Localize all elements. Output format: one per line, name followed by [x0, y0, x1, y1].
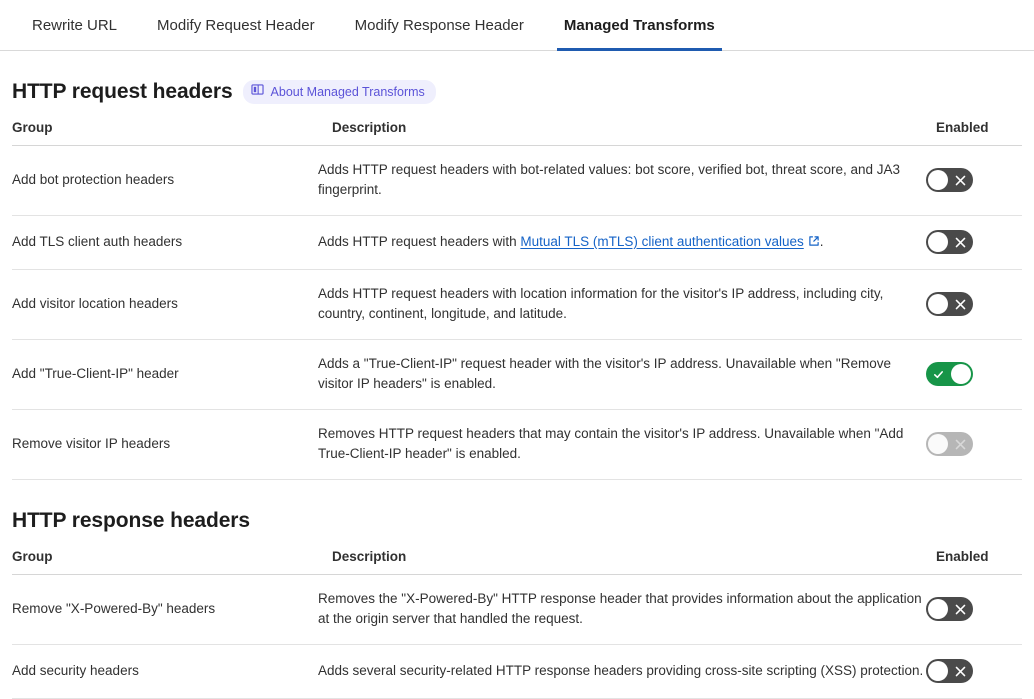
tab-modify-response-header[interactable]: Modify Response Header	[335, 0, 544, 50]
table-row: Add TLS client auth headers Adds HTTP re…	[12, 216, 1022, 270]
close-icon	[948, 230, 973, 254]
toggle-knob	[928, 661, 948, 681]
toggle-knob	[928, 434, 948, 454]
table-row: Add bot protection headers Adds HTTP req…	[12, 146, 1022, 216]
http-request-headers-section: HTTP request headers About Managed Trans…	[0, 51, 1034, 480]
tab-managed-transforms[interactable]: Managed Transforms	[544, 0, 735, 50]
row-group-name: Remove "X-Powered-By" headers	[12, 575, 318, 645]
row-enabled-cell	[926, 410, 1022, 480]
toggle-remove-x-powered-by-headers[interactable]	[926, 597, 973, 621]
toggle-add-tls-client-auth-headers[interactable]	[926, 230, 973, 254]
column-header-enabled: Enabled	[926, 119, 1022, 146]
toggle-add-security-headers[interactable]	[926, 659, 973, 683]
close-icon	[948, 597, 973, 621]
row-description: Removes the "X-Powered-By" HTTP response…	[318, 575, 926, 645]
about-managed-transforms-label: About Managed Transforms	[271, 85, 425, 100]
table-row: Remove "X-Powered-By" headers Removes th…	[12, 575, 1022, 645]
tab-rewrite-url[interactable]: Rewrite URL	[12, 0, 137, 50]
close-icon	[948, 168, 973, 192]
row-group-name: Add "True-Client-IP" header	[12, 340, 318, 410]
toggle-remove-visitor-ip-headers	[926, 432, 973, 456]
row-group-name: Add bot protection headers	[12, 146, 318, 216]
toggle-knob	[928, 170, 948, 190]
tab-bar: Rewrite URL Modify Request Header Modify…	[0, 0, 1034, 51]
table-header-row: Group Description Enabled	[12, 119, 1022, 146]
page-title-response: HTTP response headers	[12, 508, 250, 534]
row-group-name: Remove visitor IP headers	[12, 410, 318, 480]
table-header-row: Group Description Enabled	[12, 548, 1022, 575]
row-description: Adds a "True-Client-IP" request header w…	[318, 340, 926, 410]
row-group-name: Add TLS client auth headers	[12, 216, 318, 270]
column-header-enabled: Enabled	[926, 548, 1022, 575]
response-section-header: HTTP response headers	[12, 480, 1022, 548]
request-headers-table: Group Description Enabled Add bot protec…	[12, 119, 1022, 480]
request-section-header: HTTP request headers About Managed Trans…	[12, 51, 1022, 119]
close-icon	[948, 659, 973, 683]
about-managed-transforms-badge[interactable]: About Managed Transforms	[243, 80, 436, 104]
column-header-description: Description	[318, 548, 926, 575]
tab-modify-request-header[interactable]: Modify Request Header	[137, 0, 335, 50]
close-icon	[948, 432, 973, 456]
row-description: Adds HTTP request headers with location …	[318, 270, 926, 340]
http-response-headers-section: HTTP response headers Group Description …	[0, 480, 1034, 699]
response-headers-table: Group Description Enabled Remove "X-Powe…	[12, 548, 1022, 699]
row-description-prefix: Adds HTTP request headers with	[318, 234, 520, 249]
row-description-suffix: .	[820, 234, 824, 249]
check-icon	[926, 362, 951, 386]
column-header-group: Group	[12, 119, 318, 146]
row-group-name: Add visitor location headers	[12, 270, 318, 340]
toggle-knob	[928, 232, 948, 252]
row-description: Adds HTTP request headers with Mutual TL…	[318, 216, 926, 270]
toggle-add-visitor-location-headers[interactable]	[926, 292, 973, 316]
column-header-group: Group	[12, 548, 318, 575]
row-enabled-cell	[926, 575, 1022, 645]
table-row: Remove visitor IP headers Removes HTTP r…	[12, 410, 1022, 480]
mutual-tls-link[interactable]: Mutual TLS (mTLS) client authentication …	[520, 234, 803, 249]
toggle-knob	[928, 599, 948, 619]
row-enabled-cell	[926, 270, 1022, 340]
row-enabled-cell	[926, 146, 1022, 216]
table-row: Add "True-Client-IP" header Adds a "True…	[12, 340, 1022, 410]
toggle-add-bot-protection-headers[interactable]	[926, 168, 973, 192]
row-description: Adds HTTP request headers with bot-relat…	[318, 146, 926, 216]
mutual-tls-link-label: Mutual TLS (mTLS) client authentication …	[520, 234, 803, 249]
row-enabled-cell	[926, 340, 1022, 410]
row-description: Removes HTTP request headers that may co…	[318, 410, 926, 480]
table-row: Add visitor location headers Adds HTTP r…	[12, 270, 1022, 340]
book-icon	[251, 83, 264, 101]
close-icon	[948, 292, 973, 316]
row-enabled-cell	[926, 216, 1022, 270]
toggle-add-true-client-ip-header[interactable]	[926, 362, 973, 386]
external-link-icon[interactable]	[808, 233, 820, 253]
column-header-description: Description	[318, 119, 926, 146]
toggle-knob	[928, 294, 948, 314]
page-title-request: HTTP request headers	[12, 79, 233, 105]
toggle-knob	[951, 364, 971, 384]
